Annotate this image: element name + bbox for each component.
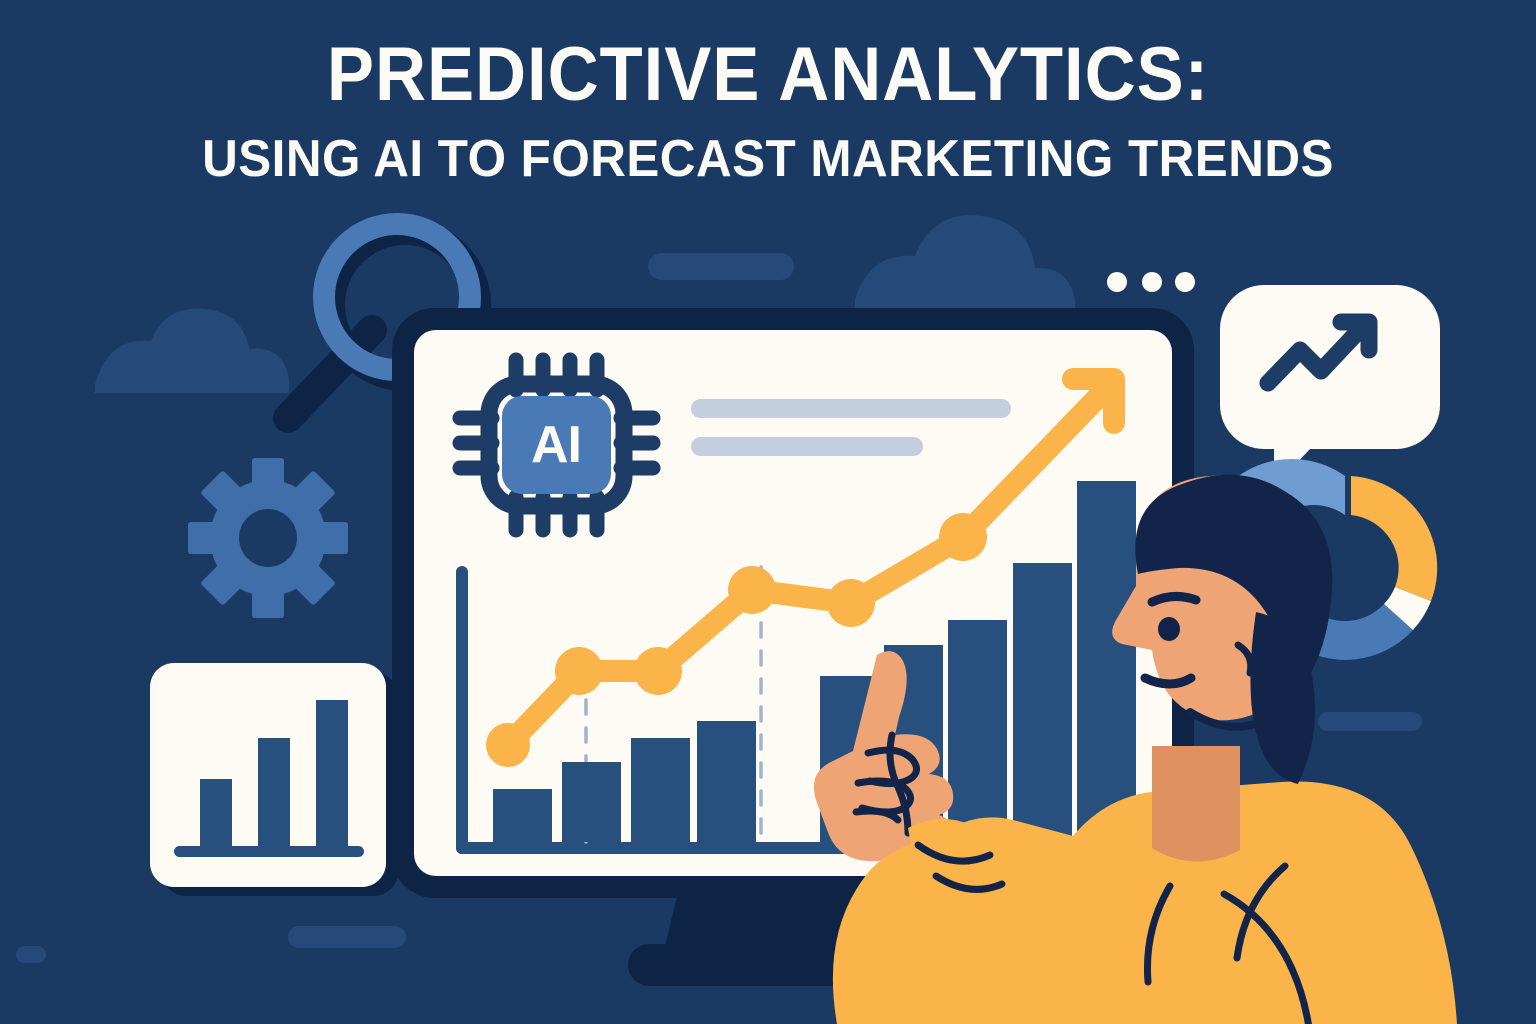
mini-bar [200,779,232,852]
data-point-marker [827,579,875,627]
dot-icon [1142,272,1162,292]
data-point-marker [486,723,530,767]
chart-bar [493,789,552,842]
chart-bar [562,762,621,842]
chart-bar [1013,563,1072,842]
data-point-marker [728,566,776,614]
dot-icon [1107,272,1127,292]
dot-icon [1175,272,1195,292]
mini-bar-chart-card [150,663,398,896]
illustration-stage [0,0,1536,1024]
eye [1158,617,1180,641]
mini-bar-baseline [174,846,364,857]
data-point-marker [634,647,682,695]
text-line-short [691,437,923,456]
chart-bar [948,620,1007,842]
data-point-marker [939,513,987,561]
chip-inner-body [502,396,611,494]
mini-bar [316,700,348,852]
neck [1152,746,1240,862]
chart-bar [697,721,756,842]
text-line-long [691,399,1011,418]
chart-bar [1077,481,1136,842]
mini-bar [258,738,290,852]
ellipsis-dots [1107,272,1195,292]
chart-bar [631,738,690,842]
y-axis [456,566,468,854]
data-point-marker [555,647,603,695]
